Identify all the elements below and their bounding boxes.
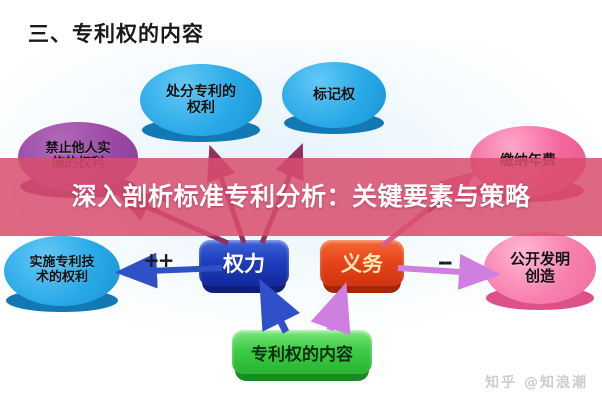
- node-power-label: 权力: [223, 248, 265, 278]
- screenshot-canvas: 三、专利权的内容: [0, 0, 602, 400]
- node-patent-right-content[interactable]: 专利权的内容: [232, 330, 372, 374]
- node-duty-label: 义务: [341, 248, 383, 278]
- node-content-label: 专利权的内容: [251, 340, 353, 365]
- node-power[interactable]: 权力: [199, 240, 289, 286]
- page-title: 三、专利权的内容: [28, 18, 204, 48]
- node-dispose-patent-right[interactable]: 处分专利的 权利: [140, 64, 262, 136]
- overlay-title-text: 深入剖析标准专利分析：关键要素与策略: [71, 181, 530, 213]
- node-duty[interactable]: 义务: [320, 240, 404, 286]
- watermark: 知乎 @知浪潮: [485, 372, 588, 392]
- node-practice-label: 实施专利技 术的权利: [23, 256, 100, 286]
- edge-mark-practice: ++: [143, 248, 173, 272]
- overlay-title-banner: 深入剖析标准专利分析：关键要素与策略: [0, 158, 602, 236]
- node-disclose-label: 公开发明 创造: [504, 251, 576, 286]
- node-dispose-label: 处分专利的 权利: [160, 84, 242, 116]
- node-mark-label: 标记权: [307, 87, 361, 103]
- edge-mark-disclose: --: [438, 250, 451, 274]
- node-practice-patent-right[interactable]: 实施专利技 术的权利: [4, 236, 120, 306]
- node-mark-right[interactable]: 标记权: [282, 62, 386, 128]
- node-disclose-invention[interactable]: 公开发明 创造: [484, 232, 596, 304]
